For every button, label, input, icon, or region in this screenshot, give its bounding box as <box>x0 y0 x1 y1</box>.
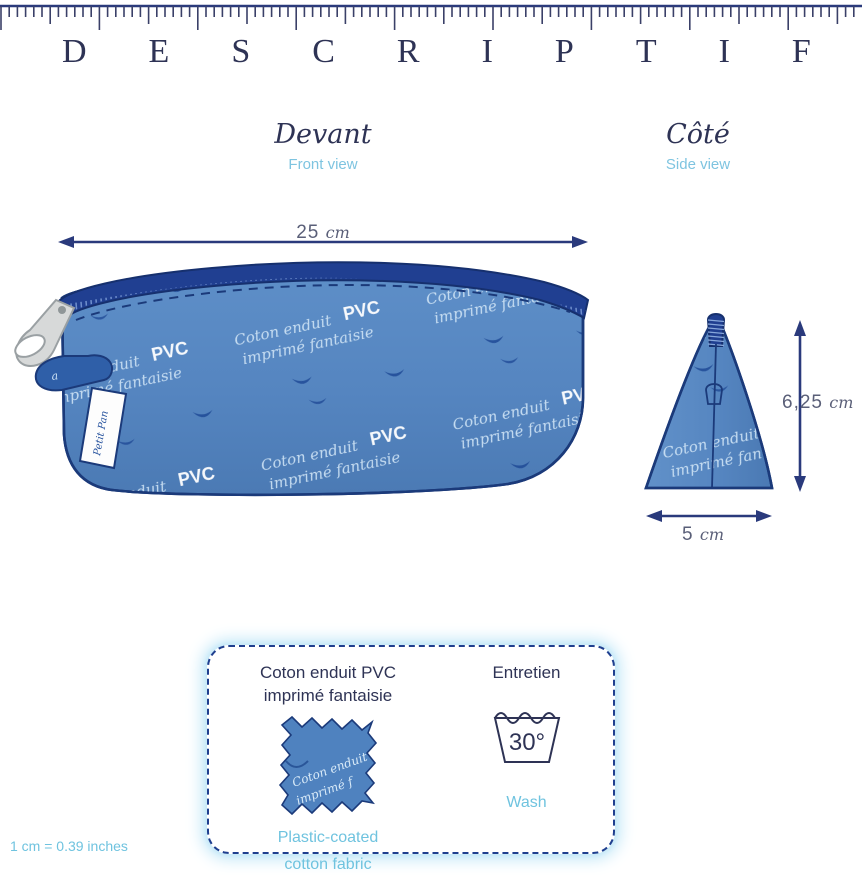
side-zipper-top <box>708 314 724 346</box>
care-info-column: Entretien 30° Wash <box>449 647 604 852</box>
descriptif-sheet: DESCRIPTIF Devant Front view Côté Side v… <box>0 0 862 862</box>
width-dimension-arrow <box>58 236 588 248</box>
depth-dimension-label: 5 cm <box>620 524 786 546</box>
care-sub: Wash <box>449 792 604 813</box>
depth-dimension-arrow <box>646 510 772 522</box>
depth-dimension-value: 5 <box>682 524 694 545</box>
front-view-label-fr: Devant <box>200 120 446 150</box>
care-icon-wrapper: 30° <box>449 706 604 768</box>
fabric-title-line1: Coton enduit PVC <box>219 661 437 684</box>
height-dimension-unit: cm <box>829 393 853 412</box>
side-view-illustration <box>620 300 862 560</box>
front-view-label-en: Front view <box>200 154 446 176</box>
height-dimension-value: 6,25 <box>782 392 823 413</box>
fabric-swatch-wrapper: Coton enduit imprimé f <box>219 713 437 821</box>
side-body <box>620 300 862 560</box>
fabric-sub-line2: cotton fabric <box>219 854 437 875</box>
fabric-swatch-icon: Coton enduit imprimé f <box>272 713 384 821</box>
info-card: Coton enduit PVC imprimé fantaisie Coton… <box>207 645 615 854</box>
side-view-caption: Côté Side view <box>610 120 786 176</box>
wash-temperature: 30° <box>508 729 544 756</box>
wash-tub-icon: 30° <box>489 706 565 768</box>
depth-dimension-unit: cm <box>700 525 724 544</box>
side-view-label-en: Side view <box>610 154 786 176</box>
side-view-label-fr: Côté <box>610 120 786 150</box>
front-view-illustration: Coton enduit PVC imprimé fantaisie <box>0 228 620 518</box>
conversion-note: 1 cm = 0.39 inches <box>10 838 128 854</box>
fabric-sub-line1: Plastic-coated <box>219 827 437 848</box>
care-title: Entretien <box>449 661 604 684</box>
fabric-title-line2: imprimé fantaisie <box>219 684 437 707</box>
fabric-info-column: Coton enduit PVC imprimé fantaisie Coton… <box>219 647 437 852</box>
height-dimension-label: 6,25 cm <box>782 392 853 414</box>
page-title-row: DESCRIPTIF <box>0 30 862 78</box>
page-title: DESCRIPTIF <box>0 30 862 74</box>
front-view-caption: Devant Front view <box>200 120 446 176</box>
ruler-icon <box>0 0 862 30</box>
